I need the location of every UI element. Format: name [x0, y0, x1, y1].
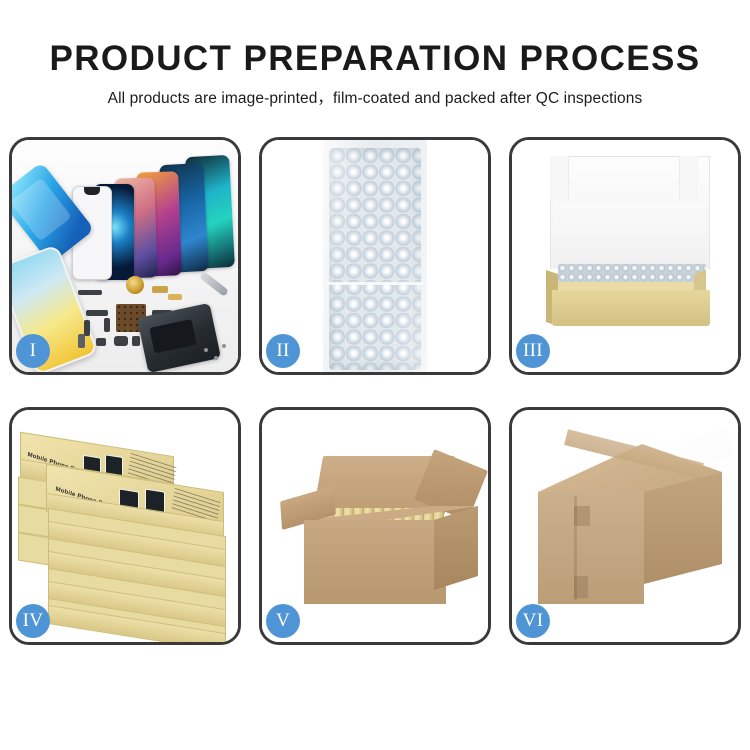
- step-badge-6: VI: [516, 604, 550, 638]
- process-step-3: III: [509, 137, 741, 375]
- box-lid-flap-right: [679, 156, 698, 200]
- process-step-5: V: [259, 407, 491, 645]
- step-badge-5: V: [266, 604, 300, 638]
- carton-tab-top: [574, 506, 590, 526]
- carton-tab-bottom: [574, 576, 588, 598]
- carton-side-face: [434, 506, 478, 590]
- step-2-image: [262, 140, 488, 372]
- process-step-1: I: [9, 137, 241, 375]
- step-6-image: [512, 410, 738, 642]
- phone-screen-fan-icon: [64, 154, 234, 284]
- carton-front-face: [304, 520, 446, 604]
- infographic-page: PRODUCT PREPARATION PROCESS All products…: [0, 0, 750, 750]
- sealed-carton-scene: [512, 410, 738, 642]
- step-4-image: Mobile Phone Spare Parts Mobile Phone Sp…: [12, 410, 238, 642]
- step-badge-2: II: [266, 334, 300, 368]
- page-subtitle: All products are image-printed，film-coat…: [0, 89, 750, 109]
- step-1-image: [12, 140, 238, 372]
- foam-sheet-icon: [554, 202, 704, 268]
- header: PRODUCT PREPARATION PROCESS All products…: [0, 0, 750, 109]
- stacked-boxes-scene: Mobile Phone Spare Parts Mobile Phone Sp…: [12, 410, 238, 642]
- box-front-icon: [552, 290, 710, 326]
- bubble-wrap-scene: [262, 140, 488, 372]
- step-badge-4: IV: [16, 604, 50, 638]
- process-step-2: II: [259, 137, 491, 375]
- step-badge-3: III: [516, 334, 550, 368]
- step-5-image: [262, 410, 488, 642]
- spare-parts-cluster-icon: [74, 274, 232, 366]
- step-badge-1: I: [16, 334, 50, 368]
- box-lid-flap-left: [550, 156, 569, 200]
- wrap-sheen: [323, 140, 427, 372]
- step-3-image: [512, 140, 738, 372]
- phone-parts-scene: [12, 140, 238, 372]
- carton-front-face: [538, 492, 644, 604]
- process-step-4: Mobile Phone Spare Parts Mobile Phone Sp…: [9, 407, 241, 645]
- open-carton-scene: [262, 410, 488, 642]
- process-step-6: VI: [509, 407, 741, 645]
- inner-box-scene: [512, 140, 738, 372]
- page-title: PRODUCT PREPARATION PROCESS: [0, 40, 750, 78]
- process-step-grid: I II: [9, 137, 741, 683]
- box-stack-icon: Mobile Phone Spare Parts Mobile Phone Sp…: [14, 430, 238, 638]
